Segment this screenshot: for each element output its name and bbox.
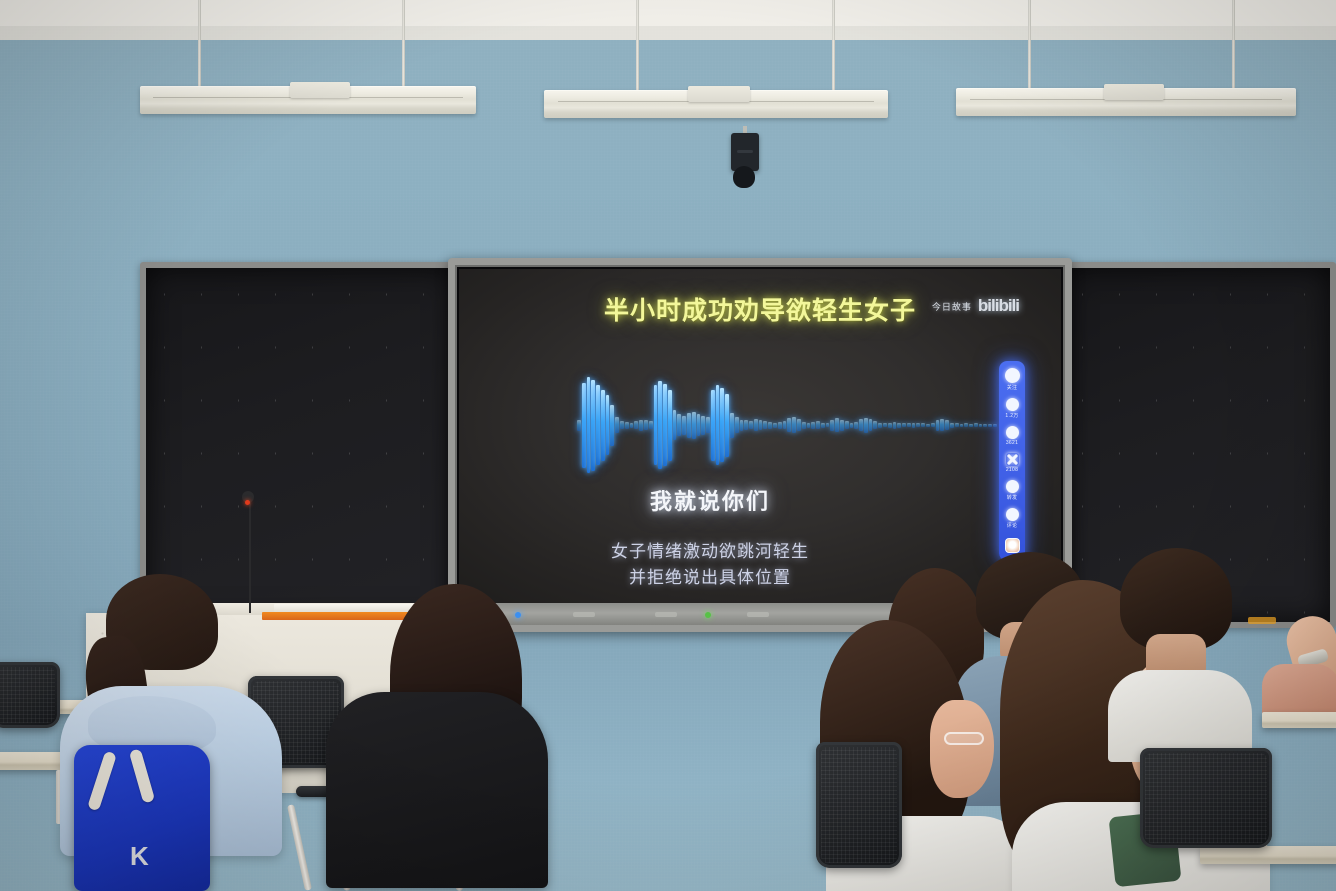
waveform-bar bbox=[926, 424, 930, 427]
waveform-bar bbox=[878, 423, 882, 428]
waveform-bar bbox=[716, 385, 720, 465]
waveform-bar bbox=[749, 421, 753, 429]
waveform-bar bbox=[711, 390, 715, 461]
student-back-right bbox=[1112, 548, 1242, 728]
waveform-bar bbox=[697, 414, 701, 436]
waveform-bar bbox=[907, 423, 911, 427]
waveform-bar bbox=[955, 423, 959, 427]
coin-button[interactable]: 3621 bbox=[1006, 426, 1019, 446]
student-desk-right-near bbox=[1200, 846, 1336, 864]
waveform-bar bbox=[873, 421, 877, 429]
waveform-bar bbox=[577, 420, 581, 431]
waveform-bar bbox=[888, 423, 892, 428]
backpack-strap bbox=[87, 751, 117, 812]
waveform-bar bbox=[974, 423, 978, 427]
avatar-button[interactable]: 关注 bbox=[1005, 368, 1020, 391]
light-rod bbox=[832, 0, 835, 92]
waveform-bar bbox=[940, 419, 944, 431]
bezel-button[interactable] bbox=[655, 612, 677, 617]
ceiling-camera bbox=[731, 126, 759, 188]
chair-right-1[interactable] bbox=[1140, 748, 1272, 848]
waveform-bar bbox=[658, 381, 662, 469]
video-action-rail[interactable]: 关注1.2万36212108转发评论 bbox=[999, 361, 1025, 561]
comment-button[interactable]: 评论 bbox=[1006, 508, 1019, 529]
like-icon bbox=[1006, 398, 1019, 411]
brand-label: 今日故事 bbox=[932, 300, 972, 313]
coin-count: 3621 bbox=[1006, 440, 1018, 446]
waveform-bar bbox=[830, 420, 834, 431]
waveform-bar bbox=[778, 422, 782, 429]
waveform-bar bbox=[821, 423, 825, 428]
waveform-bar bbox=[988, 424, 992, 427]
light-ballast bbox=[688, 86, 750, 102]
waveform-bar bbox=[768, 422, 772, 429]
classroom-scene: 半小时成功劝导欲轻生女子 今日故事 bilibili 我就说你们 女子情绪激动欲… bbox=[0, 0, 1336, 891]
waveform-bar bbox=[606, 395, 610, 455]
waveform-bar bbox=[610, 405, 614, 446]
waveform-bar bbox=[864, 418, 868, 433]
waveform-bar bbox=[735, 417, 739, 433]
waveform-bar bbox=[587, 377, 591, 473]
waveform-bar bbox=[797, 419, 801, 431]
chair-mesh bbox=[0, 667, 55, 723]
waveform-bar bbox=[630, 423, 634, 428]
light-rod bbox=[402, 0, 405, 88]
waveform-bar bbox=[649, 421, 653, 429]
waveform-bar bbox=[921, 423, 925, 427]
waveform-bar bbox=[869, 419, 873, 431]
glasses-icon bbox=[944, 732, 984, 745]
favorite-icon bbox=[1006, 453, 1019, 466]
avatar-icon bbox=[1005, 368, 1020, 383]
light-rod bbox=[1232, 0, 1235, 90]
jacket-body bbox=[326, 692, 548, 888]
share-count: 转发 bbox=[1007, 494, 1018, 501]
waveform-bar bbox=[787, 418, 791, 432]
waveform-bar bbox=[654, 385, 658, 465]
waveform-bar bbox=[902, 423, 906, 427]
waveform-bar bbox=[615, 417, 619, 433]
waveform-bar bbox=[591, 380, 595, 471]
waveform-bar bbox=[582, 383, 586, 468]
waveform-bar bbox=[625, 422, 629, 429]
waveform-bar bbox=[720, 388, 724, 462]
waveform-bar bbox=[969, 424, 973, 427]
waveform-bar bbox=[897, 423, 901, 428]
waveform-bar bbox=[682, 416, 686, 435]
waveform-bar bbox=[792, 417, 796, 433]
waveform-bar bbox=[950, 423, 954, 428]
waveform-bar bbox=[687, 413, 691, 438]
waveform-bar bbox=[859, 419, 863, 431]
waveform-bar bbox=[730, 413, 734, 438]
chair-right-2[interactable] bbox=[816, 742, 902, 868]
waveform-bar bbox=[960, 424, 964, 427]
waveform-bar bbox=[634, 421, 638, 429]
student-desk-right-far bbox=[1262, 712, 1336, 728]
bezel-button[interactable] bbox=[747, 612, 769, 617]
waveform-bar bbox=[979, 424, 983, 427]
chair-mesh bbox=[821, 747, 897, 863]
video-subtitle-main: 我就说你们 bbox=[459, 484, 961, 516]
subtitle-line-1: 女子情绪激动欲跳河轻生 bbox=[459, 539, 961, 565]
face bbox=[930, 700, 994, 798]
waveform-bar bbox=[845, 421, 849, 429]
microphone-led bbox=[245, 500, 250, 505]
favorite-button[interactable]: 2108 bbox=[1006, 453, 1019, 473]
waveform-bar bbox=[692, 412, 696, 439]
waveform-bar bbox=[701, 416, 705, 435]
like-button[interactable]: 1.2万 bbox=[1005, 398, 1018, 419]
waveform-bar bbox=[783, 421, 787, 429]
waveform-bar bbox=[993, 424, 997, 427]
like-count: 1.2万 bbox=[1005, 412, 1018, 419]
video-brand: 今日故事 bilibili bbox=[932, 296, 1019, 316]
waveform-bar bbox=[893, 422, 897, 429]
waveform-bar bbox=[826, 423, 830, 427]
waveform-bar bbox=[916, 423, 920, 427]
light-ballast bbox=[1104, 84, 1164, 100]
waveform-bar bbox=[854, 422, 858, 429]
waveform-bar bbox=[663, 384, 667, 466]
empty-chair-far-left[interactable] bbox=[0, 662, 60, 728]
share-icon bbox=[1006, 480, 1019, 493]
backpack-logo: K bbox=[130, 841, 150, 872]
waveform-bar bbox=[639, 420, 643, 431]
backpack-strap bbox=[129, 748, 155, 803]
waveform-bar bbox=[811, 422, 815, 429]
avatar-count: 关注 bbox=[1007, 384, 1018, 391]
comment-count: 评论 bbox=[1007, 522, 1018, 529]
waveform-bar bbox=[936, 420, 940, 431]
waveform-bar bbox=[773, 423, 777, 428]
waveform-bar bbox=[883, 423, 887, 427]
waveform-bar bbox=[912, 423, 916, 428]
light-ballast bbox=[290, 82, 350, 98]
waveform-bar bbox=[668, 390, 672, 461]
waveform-bar bbox=[754, 419, 758, 431]
waveform-bar bbox=[835, 418, 839, 432]
camera-lens bbox=[733, 166, 755, 188]
blue-drawstring-backpack: K bbox=[74, 745, 210, 891]
waveform-bar bbox=[673, 410, 677, 440]
waveform-bar bbox=[763, 421, 767, 429]
waveform-bar bbox=[840, 420, 844, 431]
waveform-bar bbox=[601, 390, 605, 461]
waveform-bar bbox=[620, 421, 624, 429]
comment-icon bbox=[1006, 508, 1019, 521]
light-rod bbox=[636, 0, 639, 92]
waveform-bar bbox=[677, 414, 681, 436]
student-black-jacket bbox=[326, 584, 556, 884]
share-button[interactable]: 转发 bbox=[1006, 480, 1019, 501]
waveform-bar bbox=[850, 423, 854, 428]
waveform-bar bbox=[807, 423, 811, 428]
board-speckle bbox=[146, 268, 456, 622]
bezel-button[interactable] bbox=[573, 612, 595, 617]
waveform-bar bbox=[816, 421, 820, 429]
waveform-bar bbox=[740, 420, 744, 431]
status-led-green bbox=[705, 612, 711, 618]
waveform-bar bbox=[983, 424, 987, 427]
chair-mesh bbox=[1145, 753, 1267, 843]
music-disc-icon[interactable] bbox=[1005, 538, 1020, 553]
waveform-bar bbox=[744, 420, 748, 430]
bilibili-logo-icon: bilibili bbox=[978, 296, 1019, 316]
light-rod bbox=[198, 0, 201, 88]
waveform-bar bbox=[802, 422, 806, 429]
waveform-bar bbox=[706, 417, 710, 433]
waveform-bar bbox=[759, 420, 763, 430]
audio-waveform bbox=[577, 377, 997, 473]
waveform-bar bbox=[945, 420, 949, 430]
coin-icon bbox=[1006, 426, 1019, 439]
light-rod bbox=[1028, 0, 1031, 90]
waveform-bar bbox=[725, 394, 729, 457]
favorite-count: 2108 bbox=[1006, 467, 1018, 473]
waveform-bar bbox=[964, 423, 968, 427]
waveform-bar bbox=[596, 385, 600, 465]
waveform-bar bbox=[931, 423, 935, 427]
waveform-bar bbox=[644, 420, 648, 430]
